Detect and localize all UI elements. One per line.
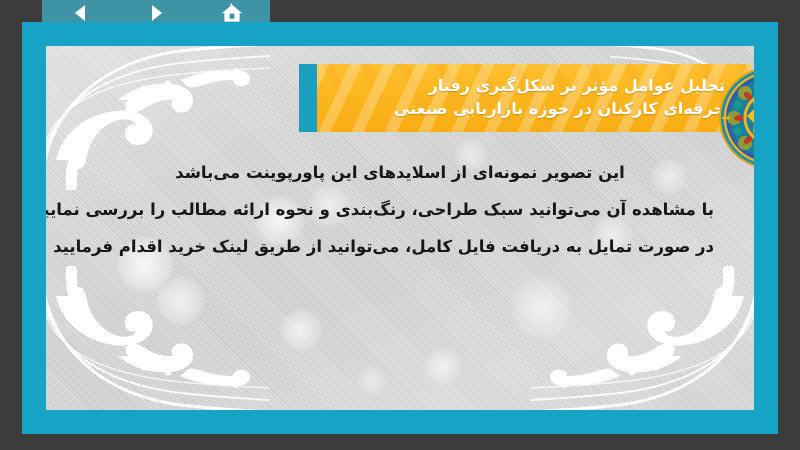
slide-frame: تحلیل عوامل مؤثر بر شکل‌گیری رفتار حرفه‌… — [22, 22, 778, 434]
slide-title-banner: تحلیل عوامل مؤثر بر شکل‌گیری رفتار حرفه‌… — [299, 64, 751, 132]
banner-body: تحلیل عوامل مؤثر بر شکل‌گیری رفتار حرفه‌… — [317, 64, 751, 132]
body-line-2: با مشاهده آن می‌توانید سبک طراحی، رنگ‌بن… — [86, 191, 714, 228]
persian-ornamental-medallion-icon — [718, 66, 754, 170]
presentation-viewer: تحلیل عوامل مؤثر بر شکل‌گیری رفتار حرفه‌… — [0, 0, 800, 450]
triangle-right-icon — [145, 2, 167, 24]
slide-title-line-1: تحلیل عوامل مؤثر بر شکل‌گیری رفتار — [429, 75, 725, 98]
banner-accent-strip — [299, 64, 317, 132]
body-line-3: در صورت تمایل به دریافت فایل کامل، می‌تو… — [86, 228, 714, 265]
arabesque-corner-bottom-right-icon — [530, 266, 754, 410]
slide-title-line-2: حرفه‌ای کارکنان در حوزه بازاریابی صنعتی — [394, 98, 725, 121]
slide-content-panel: تحلیل عوامل مؤثر بر شکل‌گیری رفتار حرفه‌… — [46, 46, 754, 410]
body-line-1: این تصویر نمونه‌ای از اسلایدهای این پاور… — [86, 154, 714, 191]
slide-body-text: این تصویر نمونه‌ای از اسلایدهای این پاور… — [86, 154, 714, 265]
arabesque-corner-bottom-left-icon — [46, 266, 270, 410]
triangle-left-icon — [69, 2, 91, 24]
